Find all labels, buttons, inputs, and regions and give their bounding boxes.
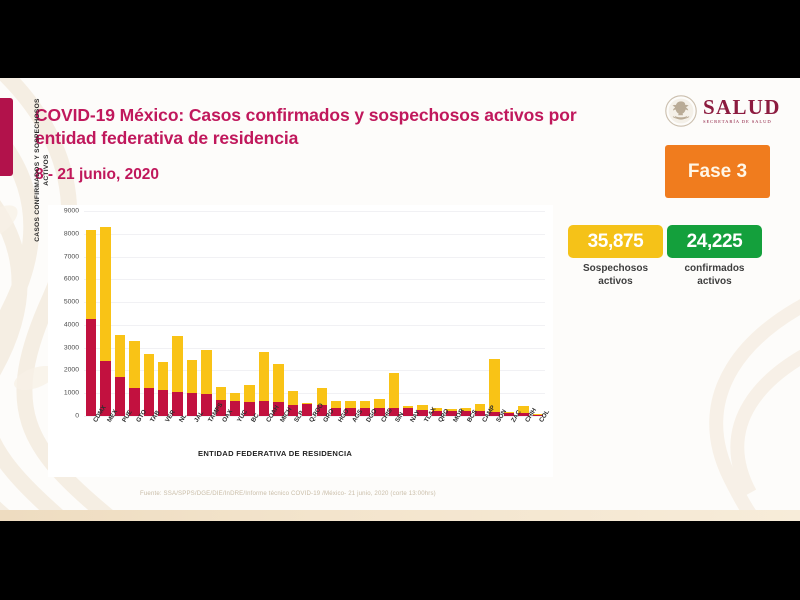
chart-bars: [84, 211, 545, 416]
page-date-range: 8 - 21 junio, 2020: [35, 166, 635, 184]
bar-segment-sospechosos: [86, 230, 96, 319]
stat-caption-sospechosos: Sospechosos activos: [568, 263, 663, 288]
bar-segment-sospechosos: [331, 401, 341, 408]
bar-gto: [129, 341, 139, 416]
bar-jal: [187, 360, 197, 416]
header-block: COVID-19 México: Casos confirmados y sos…: [35, 104, 635, 184]
bar-segment-sospechosos: [244, 385, 254, 402]
stat-value-sospechosos: 35,875: [588, 231, 644, 253]
letterbox-bottom-bar: [0, 521, 800, 600]
bar-nl: [172, 336, 182, 416]
bar-segment-sospechosos: [288, 391, 298, 405]
y-axis-tick-label: 2000: [64, 367, 79, 374]
y-axis-tick-label: 8000: [64, 230, 79, 237]
bar-segment-confirmados: [187, 393, 197, 416]
bar-segment-sospechosos: [144, 354, 154, 388]
bar-segment-sospechosos: [360, 401, 370, 408]
bar-segment-sospechosos: [216, 387, 226, 400]
slide-frame: COVID-19 México: Casos confirmados y sos…: [0, 78, 800, 512]
mexican-eagle-emblem-icon: [665, 95, 697, 127]
bar-segment-sospechosos: [100, 227, 110, 361]
stat-card-sospechosos: 35,875 Sospechosos activos: [568, 225, 663, 288]
salud-tagline: SECRETARÍA DE SALUD: [703, 120, 781, 125]
stat-value-confirmados: 24,225: [687, 231, 743, 253]
bar-segment-confirmados: [86, 319, 96, 416]
bar-segment-sospechosos: [129, 341, 139, 388]
stat-pill-confirmados: 24,225: [667, 225, 762, 258]
y-axis-tick-label: 5000: [64, 299, 79, 306]
salud-logo: SALUD SECRETARÍA DE SALUD: [665, 95, 781, 127]
stat-caption-confirmados: confirmados activos: [667, 263, 762, 288]
bar-segment-sospechosos: [187, 360, 197, 393]
stat-pill-sospechosos: 35,875: [568, 225, 663, 258]
y-axis-tick-label: 4000: [64, 321, 79, 328]
stat-card-confirmados: 24,225 confirmados activos: [667, 225, 762, 288]
bar-segment-sospechosos: [273, 364, 283, 402]
salud-name: SALUD: [703, 97, 781, 118]
y-axis-tick-label: 0: [75, 413, 79, 420]
y-axis-tick-label: 6000: [64, 276, 79, 283]
phase-badge-label: Fase 3: [688, 161, 747, 183]
chart-y-axis-title: CASOS CONFIRMADOS Y SOSPECHOSOS ACTIVOS: [34, 95, 52, 245]
salud-wordmark: SALUD SECRETARÍA DE SALUD: [703, 97, 781, 125]
bar-cdmx: [86, 230, 96, 416]
bar-segment-sospechosos: [201, 350, 211, 393]
bar-segment-sospechosos: [374, 399, 384, 408]
bar-segment-sospechosos: [259, 352, 269, 401]
letterbox-top-bar: [0, 0, 800, 78]
y-axis-tick-label: 7000: [64, 253, 79, 260]
bar-segment-sospechosos: [158, 362, 168, 390]
source-note: Fuente: SSA/SPPS/DGE/DIE/InDRE/Informe t…: [140, 490, 436, 497]
bar-segment-sospechosos: [345, 401, 355, 409]
watermark-swirl-right: [540, 278, 800, 512]
bar-ver: [158, 362, 168, 416]
bar-segment-sospechosos: [115, 335, 125, 377]
y-axis-tick-label: 9000: [64, 208, 79, 215]
y-axis-tick-label: 1000: [64, 390, 79, 397]
chart-container: CASOS CONFIRMADOS Y SOSPECHOSOS ACTIVOS …: [48, 205, 553, 477]
title-accent-bar: [0, 98, 13, 176]
chart-x-axis-title: ENTIDAD FEDERATIVA DE RESIDENCIA: [198, 449, 352, 458]
chart-plot-area: 0100020003000400050006000700080009000: [84, 211, 545, 417]
bar-segment-sospechosos: [230, 393, 240, 401]
bar-coah: [259, 352, 269, 416]
bar-mex: [100, 227, 110, 416]
phase-badge: Fase 3: [665, 145, 770, 198]
page-title: COVID-19 México: Casos confirmados y sos…: [35, 104, 635, 150]
bar-segment-sospechosos: [172, 336, 182, 392]
bar-segment-sospechosos: [389, 373, 399, 408]
bar-tab: [144, 354, 154, 416]
bar-pue: [115, 335, 125, 416]
bottom-accent-strip: [0, 510, 800, 521]
y-axis-tick-label: 3000: [64, 344, 79, 351]
bar-tamps: [201, 350, 211, 416]
